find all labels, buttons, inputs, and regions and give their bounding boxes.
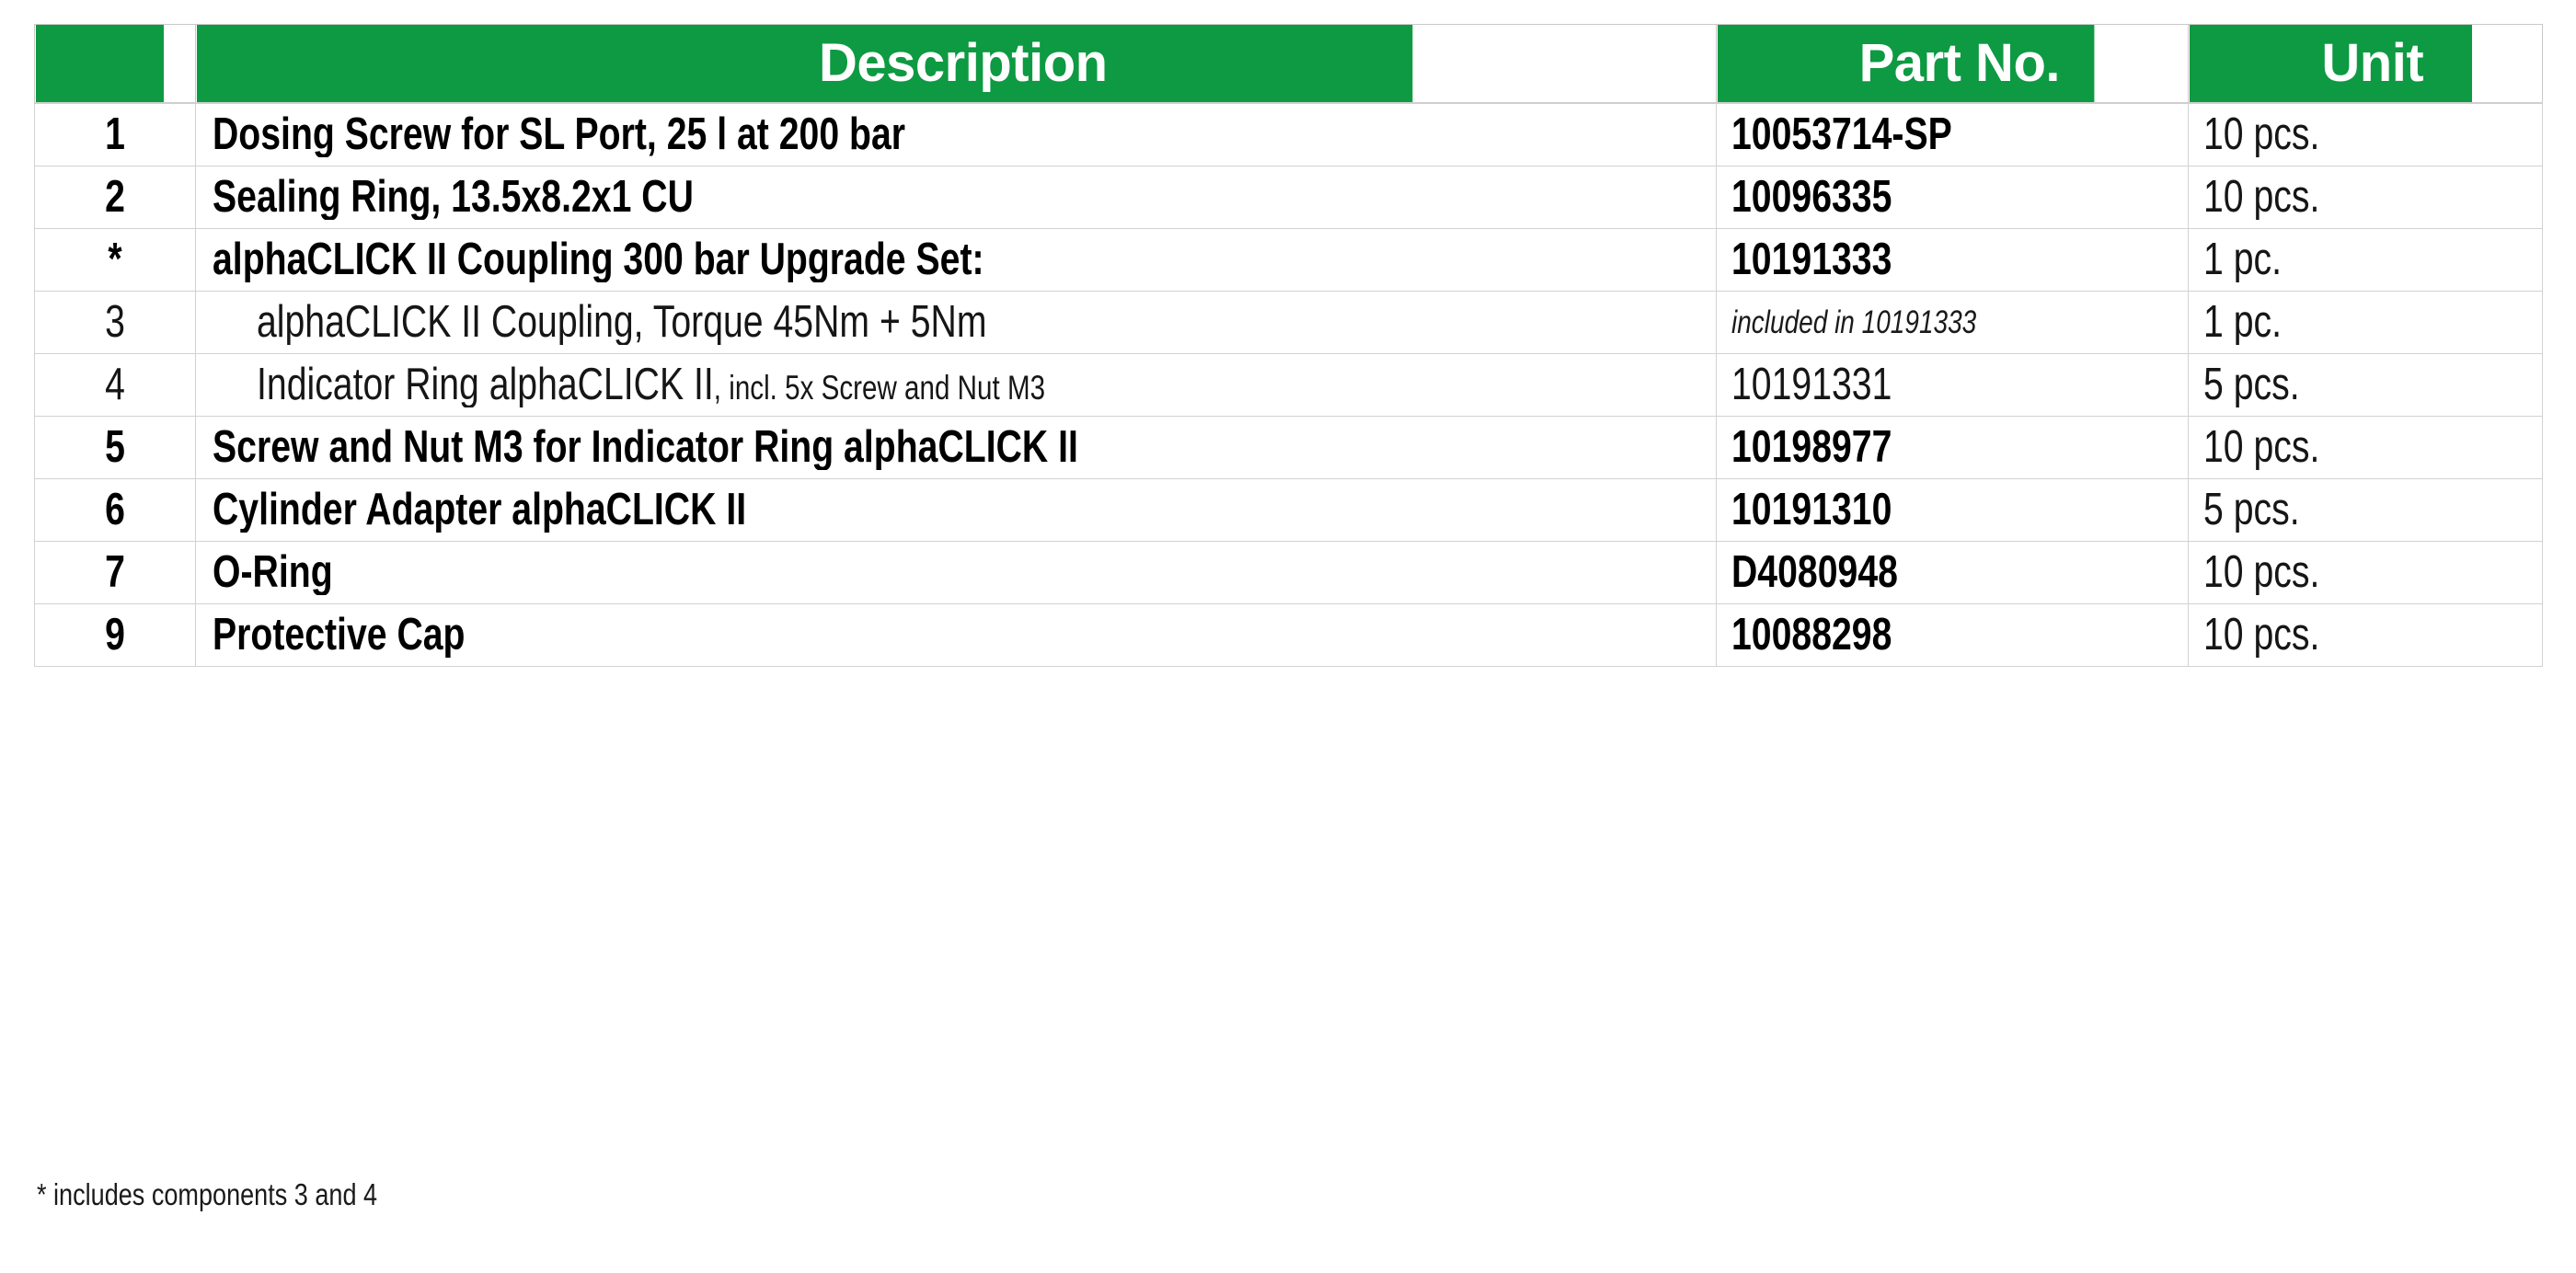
row-part-number-label: 10191310 (1731, 487, 2097, 533)
table-row: 1Dosing Screw for SL Port, 25 l at 200 b… (35, 103, 2543, 166)
table-row: 3alphaCLICK II Coupling, Torque 45Nm + 5… (35, 292, 2543, 354)
row-item-number: 2 (35, 166, 196, 229)
row-description-label: Cylinder Adapter alphaCLICK II (213, 487, 746, 533)
row-unit-label: 10 pcs. (2203, 112, 2474, 157)
row-part-number-label: 10191333 (1731, 237, 2097, 282)
row-item-number-label: 5 (51, 425, 178, 470)
table-row: 4Indicator Ring alphaCLICK II, incl. 5x … (35, 354, 2543, 417)
row-unit-label: 10 pcs. (2203, 613, 2474, 658)
row-item-number-label: 9 (51, 613, 178, 658)
row-item-number-label: 7 (51, 550, 178, 595)
row-part-number-label: 10191331 (1731, 362, 2097, 407)
row-unit: 10 pcs. (2189, 604, 2543, 667)
row-description-label: Protective Cap (213, 613, 466, 658)
row-part-number-label: 10198977 (1731, 425, 2097, 470)
row-unit-label: 5 pcs. (2203, 362, 2474, 407)
row-description-label: Indicator Ring alphaCLICK II (257, 362, 714, 407)
row-part-number-label: 10096335 (1731, 175, 2097, 220)
row-part-number-label: 10053714-SP (1731, 112, 2097, 157)
row-unit-label: 10 pcs. (2203, 425, 2474, 470)
row-description-label: Sealing Ring, 13.5x8.2x1 CU (213, 175, 694, 220)
row-part-number: 10053714-SP (1717, 103, 2189, 166)
row-part-number: 10096335 (1717, 166, 2189, 229)
table-row: 6Cylinder Adapter alphaCLICK II101913105… (35, 479, 2543, 542)
column-header-item (35, 25, 164, 104)
table-row: 5Screw and Nut M3 for Indicator Ring alp… (35, 417, 2543, 479)
column-header-description: Description (196, 25, 1412, 104)
row-item-number: 4 (35, 354, 196, 417)
row-description: Indicator Ring alphaCLICK II, incl. 5x S… (196, 354, 1717, 417)
row-part-number-label: D4080948 (1731, 550, 2097, 595)
table-row: 9Protective Cap1008829810 pcs. (35, 604, 2543, 667)
row-item-number-label: 6 (51, 487, 178, 533)
table-header-row: Description Part No. Unit (35, 25, 2543, 104)
row-part-number: 10191310 (1717, 479, 2189, 542)
row-part-number: 10088298 (1717, 604, 2189, 667)
row-unit-label: 1 pc. (2203, 300, 2474, 345)
row-item-number-label: 2 (51, 175, 178, 220)
row-description: Sealing Ring, 13.5x8.2x1 CU (196, 166, 1717, 229)
row-description: Dosing Screw for SL Port, 25 l at 200 ba… (196, 103, 1717, 166)
row-unit: 10 pcs. (2189, 542, 2543, 604)
row-unit: 1 pc. (2189, 292, 2543, 354)
row-description-label: alphaCLICK II Coupling, Torque 45Nm + 5N… (257, 300, 987, 345)
row-part-number: D4080948 (1717, 542, 2189, 604)
row-item-number: 5 (35, 417, 196, 479)
row-description: O-Ring (196, 542, 1717, 604)
table-footnote: * includes components 3 and 4 (37, 1179, 377, 1210)
row-description-label: Screw and Nut M3 for Indicator Ring alph… (213, 425, 1078, 470)
row-description-inner: Screw and Nut M3 for Indicator Ring alph… (213, 425, 1415, 470)
column-header-unit: Unit (2189, 25, 2472, 104)
row-description: alphaCLICK II Coupling 300 bar Upgrade S… (196, 229, 1717, 292)
table-row: 7O-RingD408094810 pcs. (35, 542, 2543, 604)
row-description: Cylinder Adapter alphaCLICK II (196, 479, 1717, 542)
row-unit: 10 pcs. (2189, 103, 2543, 166)
column-header-description-label: Description (196, 37, 1716, 90)
row-unit-label: 10 pcs. (2203, 550, 2474, 595)
row-part-number: 10198977 (1717, 417, 2189, 479)
row-unit: 5 pcs. (2189, 354, 2543, 417)
row-description-inner: Cylinder Adapter alphaCLICK II (213, 487, 1415, 533)
row-description-label: Dosing Screw for SL Port, 25 l at 200 ba… (213, 112, 905, 157)
row-item-number: 6 (35, 479, 196, 542)
row-item-number-label: 3 (51, 300, 178, 345)
row-description-inner: Indicator Ring alphaCLICK II, incl. 5x S… (213, 362, 1415, 407)
row-item-number: 7 (35, 542, 196, 604)
row-part-number-label: included in 10191333 (1731, 306, 2097, 338)
row-unit: 10 pcs. (2189, 417, 2543, 479)
row-description-inner: Dosing Screw for SL Port, 25 l at 200 ba… (213, 112, 1415, 157)
row-part-number: included in 10191333 (1717, 292, 2189, 354)
row-unit-label: 10 pcs. (2203, 175, 2474, 220)
row-item-number-label: 4 (51, 362, 178, 407)
row-description: alphaCLICK II Coupling, Torque 45Nm + 5N… (196, 292, 1717, 354)
row-description-inner: Protective Cap (213, 613, 1415, 658)
row-description-label: O-Ring (213, 550, 333, 595)
table-row: 2Sealing Ring, 13.5x8.2x1 CU1009633510 p… (35, 166, 2543, 229)
row-part-number-label: 10088298 (1731, 613, 2097, 658)
column-header-part-no-label: Part No. (1717, 37, 2188, 90)
row-item-number: 1 (35, 103, 196, 166)
row-description-label: alphaCLICK II Coupling 300 bar Upgrade S… (213, 237, 984, 282)
row-unit-label: 5 pcs. (2203, 487, 2474, 533)
row-description-note: , incl. 5x Screw and Nut M3 (714, 369, 1045, 407)
table-body: 1Dosing Screw for SL Port, 25 l at 200 b… (35, 103, 2543, 667)
row-item-number: 9 (35, 604, 196, 667)
row-description: Screw and Nut M3 for Indicator Ring alph… (196, 417, 1717, 479)
row-unit-label: 1 pc. (2203, 237, 2474, 282)
table-row: *alphaCLICK II Coupling 300 bar Upgrade … (35, 229, 2543, 292)
row-item-number: 3 (35, 292, 196, 354)
row-unit: 1 pc. (2189, 229, 2543, 292)
spare-parts-table-container: Description Part No. Unit 1Dosing Screw … (34, 24, 2542, 667)
row-unit: 5 pcs. (2189, 479, 2543, 542)
row-unit: 10 pcs. (2189, 166, 2543, 229)
row-item-number: * (35, 229, 196, 292)
row-description-inner: O-Ring (213, 550, 1415, 595)
row-item-number-label: * (51, 237, 178, 282)
spare-parts-page: Description Part No. Unit 1Dosing Screw … (0, 0, 2576, 1273)
column-header-part-no: Part No. (1717, 25, 2094, 104)
row-description-inner: Sealing Ring, 13.5x8.2x1 CU (213, 175, 1415, 220)
row-description-inner: alphaCLICK II Coupling, Torque 45Nm + 5N… (213, 300, 1415, 345)
row-description: Protective Cap (196, 604, 1717, 667)
table-header: Description Part No. Unit (35, 25, 2543, 104)
row-item-number-label: 1 (51, 112, 178, 157)
row-part-number: 10191331 (1717, 354, 2189, 417)
spare-parts-table: Description Part No. Unit 1Dosing Screw … (34, 24, 2543, 667)
row-description-inner: alphaCLICK II Coupling 300 bar Upgrade S… (213, 237, 1415, 282)
row-part-number: 10191333 (1717, 229, 2189, 292)
column-header-unit-label: Unit (2189, 37, 2542, 90)
